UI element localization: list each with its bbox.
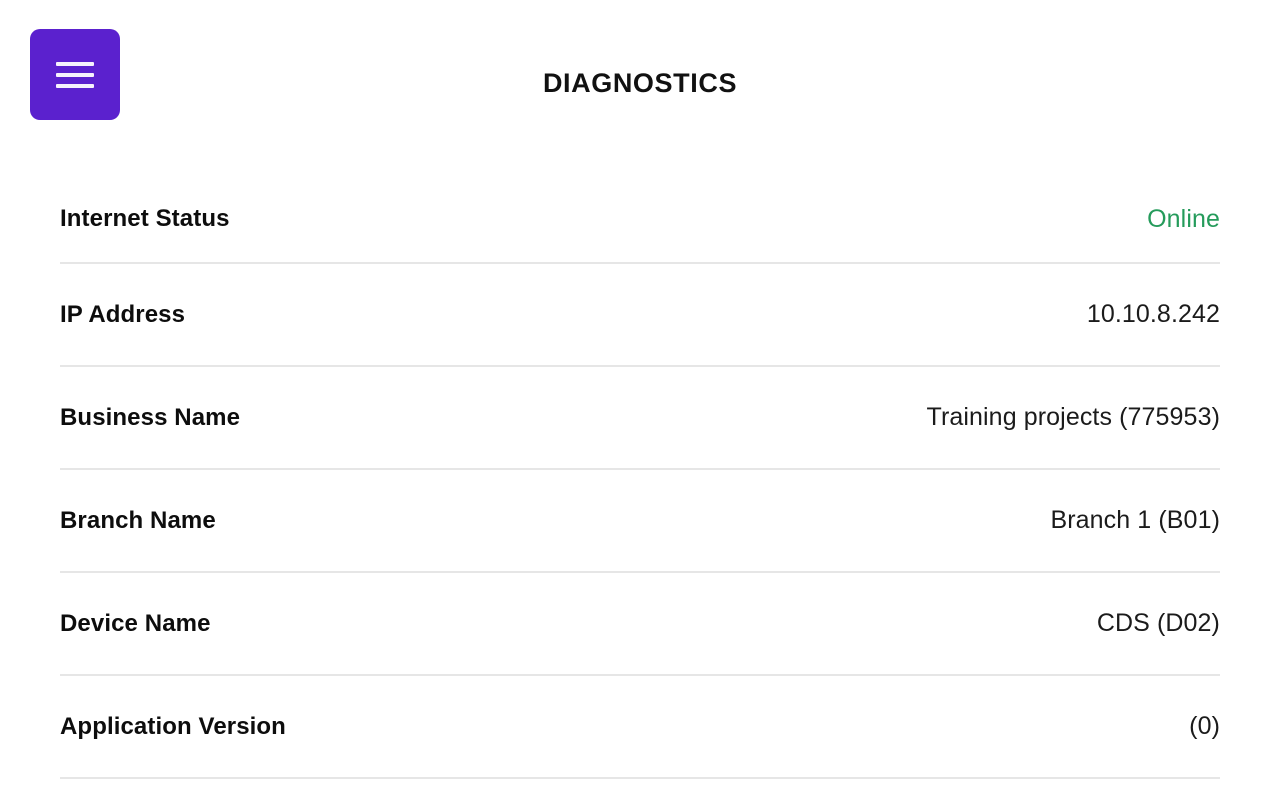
row-label-business-name: Business Name <box>60 404 240 432</box>
list-item: Application Version (0) <box>60 676 1220 779</box>
list-item: Business Name Training projects (775953) <box>60 367 1220 470</box>
list-item: Branch Name Branch 1 (B01) <box>60 470 1220 573</box>
row-value-branch-name: Branch 1 (B01) <box>1050 506 1220 535</box>
list-item: Internet Status Online <box>60 176 1220 264</box>
list-item: Device Name CDS (D02) <box>60 573 1220 676</box>
list-item: IP Address 10.10.8.242 <box>60 264 1220 367</box>
row-value-ip-address: 10.10.8.242 <box>1087 300 1220 329</box>
row-label-ip-address: IP Address <box>60 301 185 329</box>
status-badge-internet-status: Online <box>1147 205 1220 234</box>
row-label-application-version: Application Version <box>60 713 286 741</box>
page-title: DIAGNOSTICS <box>0 63 1280 103</box>
row-label-internet-status: Internet Status <box>60 205 230 233</box>
row-label-device-name: Device Name <box>60 610 211 638</box>
diagnostics-screen: DIAGNOSTICS Internet Status Online IP Ad… <box>0 0 1280 800</box>
row-value-application-version: (0) <box>1189 712 1220 741</box>
row-value-business-name: Training projects (775953) <box>927 403 1221 432</box>
row-label-branch-name: Branch Name <box>60 507 216 535</box>
app-header: DIAGNOSTICS <box>0 0 1280 149</box>
row-value-device-name: CDS (D02) <box>1097 609 1220 638</box>
diagnostics-list: Internet Status Online IP Address 10.10.… <box>60 176 1220 779</box>
